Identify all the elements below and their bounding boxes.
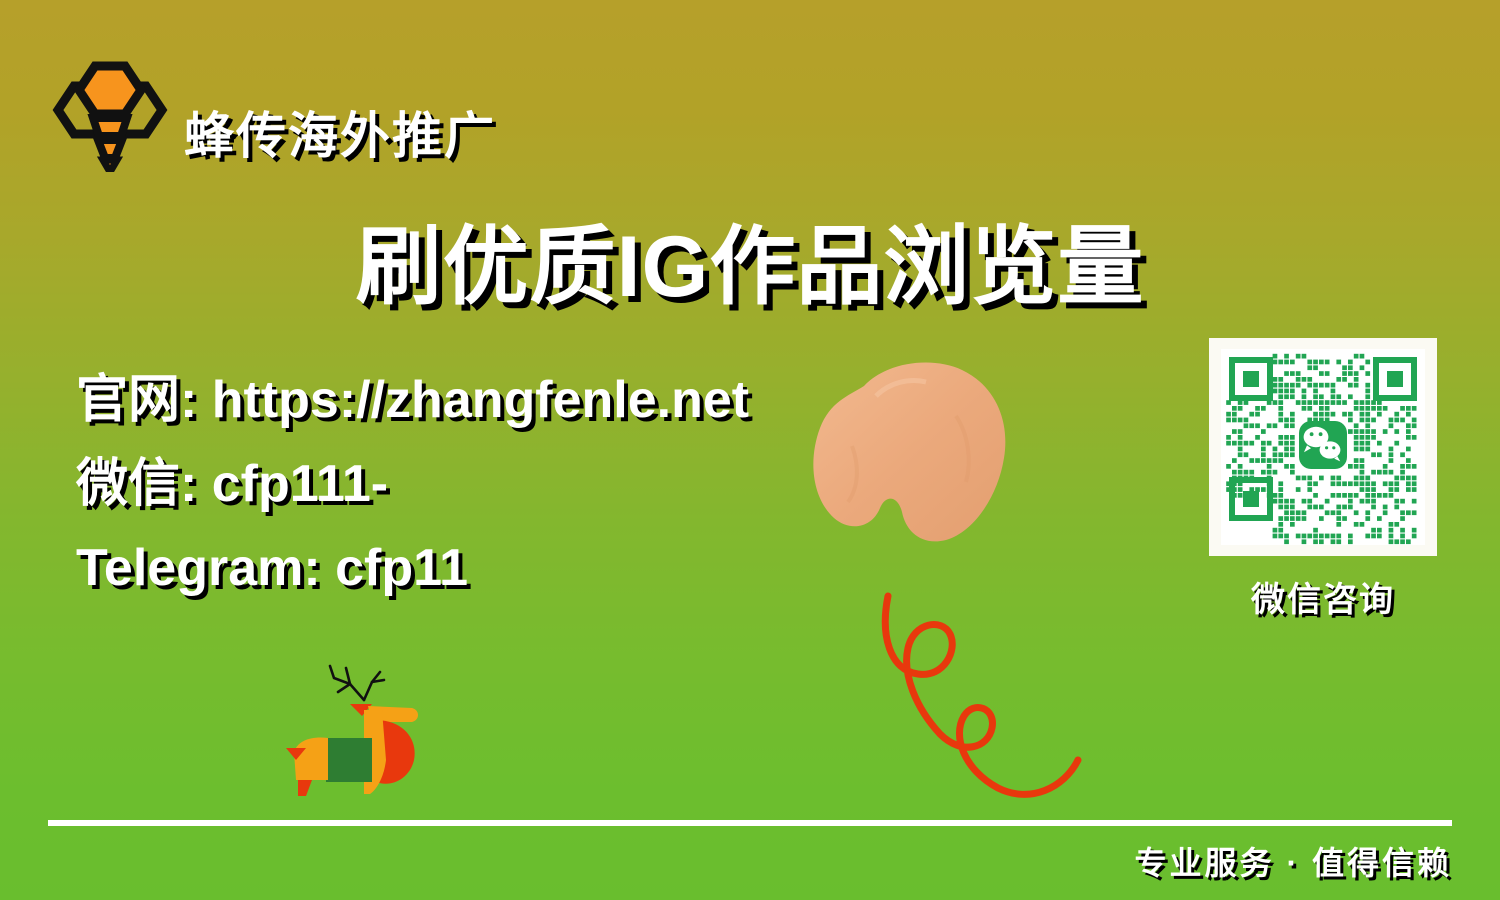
organic-blob-shape-icon xyxy=(806,356,1018,548)
qr-code-icon[interactable] xyxy=(1221,349,1425,545)
page-title: 刷优质IG作品浏览量 xyxy=(0,196,1500,321)
footer-tagline: 专业服务 · 值得信赖 xyxy=(1135,838,1452,884)
wechat-qr-card[interactable] xyxy=(1209,338,1437,556)
geometric-deer-shape-icon xyxy=(272,648,432,796)
footer-divider xyxy=(48,820,1452,826)
brand-name: 蜂传海外推广 xyxy=(184,96,496,168)
qr-label: 微信咨询 xyxy=(1209,572,1437,621)
bee-honeycomb-logo-icon xyxy=(48,48,172,172)
promo-banner: 蜂传海外推广 刷优质IG作品浏览量 官网: https://zhangfenle… xyxy=(0,0,1500,900)
curly-squiggle-shape-icon xyxy=(878,588,1104,814)
